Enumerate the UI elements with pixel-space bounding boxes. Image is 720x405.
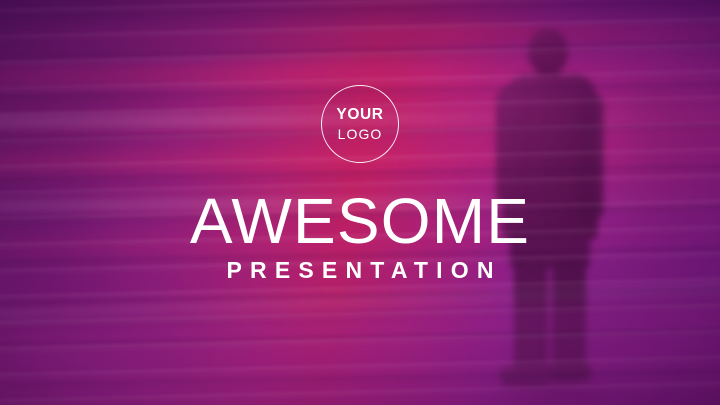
presentation-title-slide: YOUR LOGO AWESOME PRESENTATION (0, 0, 720, 405)
logo-placeholder-badge[interactable]: YOUR LOGO (321, 85, 399, 163)
slide-subtitle: PRESENTATION (0, 259, 720, 282)
logo-secondary-text: LOGO (338, 127, 383, 141)
slide-content: YOUR LOGO AWESOME PRESENTATION (0, 0, 720, 405)
logo-primary-text: YOUR (336, 107, 383, 123)
slide-title: AWESOME (0, 189, 720, 253)
